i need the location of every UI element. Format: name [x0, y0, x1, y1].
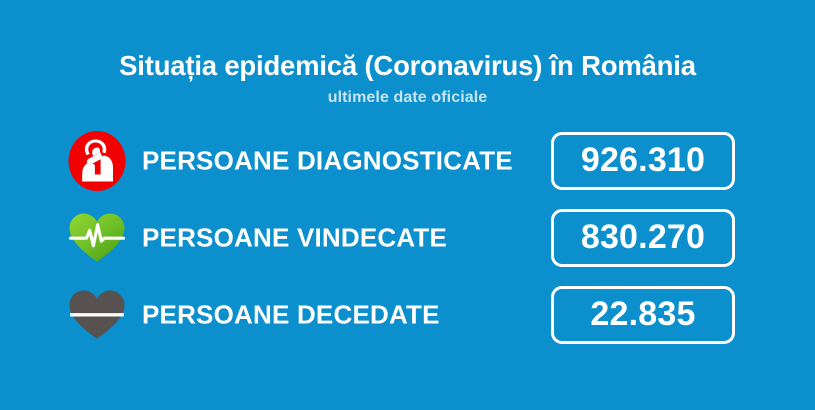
stat-row-deceased: PERSOANE DECEDATE 22.835 [0, 286, 815, 344]
stat-value-box-diagnosed: 926.310 [551, 132, 735, 190]
stat-value-box-deceased: 22.835 [551, 286, 735, 344]
stat-label-diagnosed: PERSOANE DIAGNOSTICATE [142, 146, 513, 177]
heart-pulse-icon [66, 207, 128, 269]
stat-label-deceased: PERSOANE DECEDATE [142, 300, 440, 331]
stats-list: PERSOANE DIAGNOSTICATE 926.310 [0, 132, 815, 363]
stat-value-deceased: 22.835 [590, 297, 695, 331]
header: Situația epidemică (Coronavirus) în Româ… [0, 50, 815, 107]
stat-value-box-recovered: 830.270 [551, 209, 735, 267]
stat-value-recovered: 830.270 [581, 220, 705, 254]
stat-row-recovered: PERSOANE VINDECATE 830.270 [0, 209, 815, 267]
page-title: Situația epidemică (Coronavirus) în Româ… [0, 50, 815, 82]
stat-row-diagnosed: PERSOANE DIAGNOSTICATE 926.310 [0, 132, 815, 190]
covid-stats-infographic: Situația epidemică (Coronavirus) în Româ… [0, 0, 815, 410]
heart-flatline-icon [66, 284, 128, 346]
stat-value-diagnosed: 926.310 [581, 143, 705, 177]
stat-label-recovered: PERSOANE VINDECATE [142, 223, 447, 254]
page-subtitle: ultimele date oficiale [0, 89, 815, 107]
sick-person-circle-icon [66, 130, 128, 192]
